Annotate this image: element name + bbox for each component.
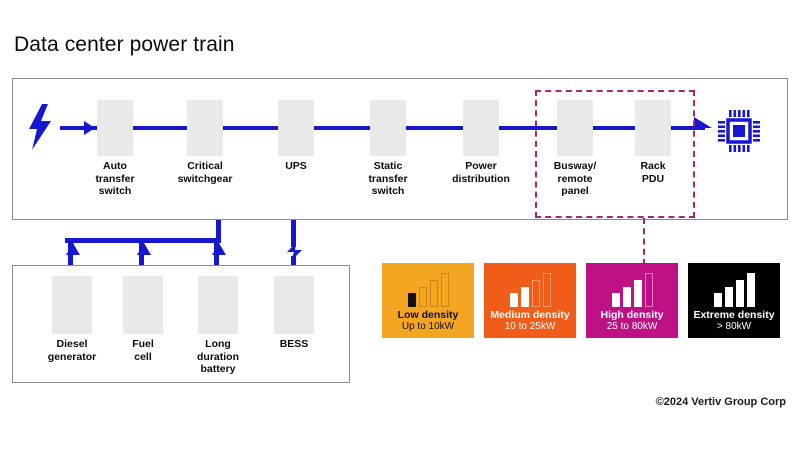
node-box-power-distribution[interactable] [463,100,499,156]
density-card-extreme-density[interactable]: Extreme density> 80kW [688,263,780,338]
label-line: transfer [69,173,161,186]
density-bar [441,273,449,307]
density-card-name-high-density: High density [586,309,678,321]
density-bar [736,280,744,307]
backup-arrow-0 [66,243,80,255]
page-title: Data center power train [14,33,235,57]
node-box-auto-transfer-switch[interactable] [97,100,133,156]
density-bar [419,287,427,307]
label-line: transfer [342,173,434,186]
density-bars-low-density [382,271,474,307]
density-card-name-extreme-density: Extreme density [688,309,780,321]
label-line: Auto [69,160,161,173]
density-bar [408,293,416,307]
high-density-highlight-group[interactable] [535,90,695,218]
density-card-low-density[interactable]: Low densityUp to 10kW [382,263,474,338]
density-bar [430,280,438,307]
label-line: Power [435,160,527,173]
label-line: Critical [159,160,251,173]
backup-node-label-long-duration-battery: Longdurationbattery [175,338,261,376]
diagram-canvas: Data center power train Autotransferswit… [0,0,800,450]
bus-segment-2 [223,126,278,130]
density-bar [634,280,642,307]
density-bar [725,287,733,307]
backup-node-box-long-duration-battery[interactable] [198,276,238,334]
density-bar [521,287,529,307]
density-bars-high-density [586,271,678,307]
bess-lightning-icon [286,243,304,266]
backup-node-box-fuel-cell[interactable] [123,276,163,334]
backup-node-label-fuel-cell: Fuelcell [100,338,186,363]
label-line: switchgear [159,173,251,186]
bus-segment-3 [314,126,370,130]
density-bar [612,293,620,307]
backup-node-box-diesel-generator[interactable] [52,276,92,334]
density-card-high-density[interactable]: High density25 to 80kW [586,263,678,338]
density-card-range-low-density: Up to 10kW [382,321,474,333]
node-label-critical-switchgear: Criticalswitchgear [159,160,251,185]
copyright-notice: ©2024 Vertiv Group Corp [656,396,786,408]
density-card-range-medium-density: 10 to 25kW [484,321,576,333]
label-line: Long [175,338,261,351]
backup-arrow-1 [137,243,151,255]
high-density-connector-line [643,218,645,265]
node-label-ups: UPS [250,160,342,173]
density-bars-medium-density [484,271,576,307]
label-line: UPS [250,160,342,173]
density-bar [532,280,540,307]
density-bar [510,293,518,307]
backup-node-box-bess[interactable] [274,276,314,334]
density-card-range-high-density: 25 to 80kW [586,321,678,333]
label-line: Fuel [100,338,186,351]
density-card-name-medium-density: Medium density [484,309,576,321]
label-line: switch [69,185,161,198]
label-line: switch [342,185,434,198]
node-box-static-transfer-switch[interactable] [370,100,406,156]
density-card-range-extreme-density: > 80kW [688,321,780,333]
lightning-bolt-icon [26,104,54,155]
label-line: Static [342,160,434,173]
label-line: cell [100,351,186,364]
backup-arrow-2 [212,243,226,255]
density-bars-extreme-density [688,271,780,307]
cpu-chip-icon [716,108,762,159]
density-bar [623,287,631,307]
bus-segment-1 [133,126,187,130]
node-label-power-distribution: Powerdistribution [435,160,527,185]
node-label-static-transfer-switch: Statictransferswitch [342,160,434,198]
label-line: battery [175,363,261,376]
density-card-name-low-density: Low density [382,309,474,321]
bus-arrowhead-start [84,121,95,135]
node-box-ups[interactable] [278,100,314,156]
bus-segment-4 [406,126,463,130]
node-label-auto-transfer-switch: Autotransferswitch [69,160,161,198]
backup-node-label-bess: BESS [251,338,337,351]
density-bar [714,293,722,307]
node-box-critical-switchgear[interactable] [187,100,223,156]
density-bar [747,273,755,307]
density-bar [645,273,653,307]
label-line: distribution [435,173,527,186]
density-bar [543,273,551,307]
label-line: BESS [251,338,337,351]
density-card-medium-density[interactable]: Medium density10 to 25kW [484,263,576,338]
label-line: duration [175,351,261,364]
backup-bus-riser [216,220,221,243]
bus-arrowhead-end [694,117,712,128]
